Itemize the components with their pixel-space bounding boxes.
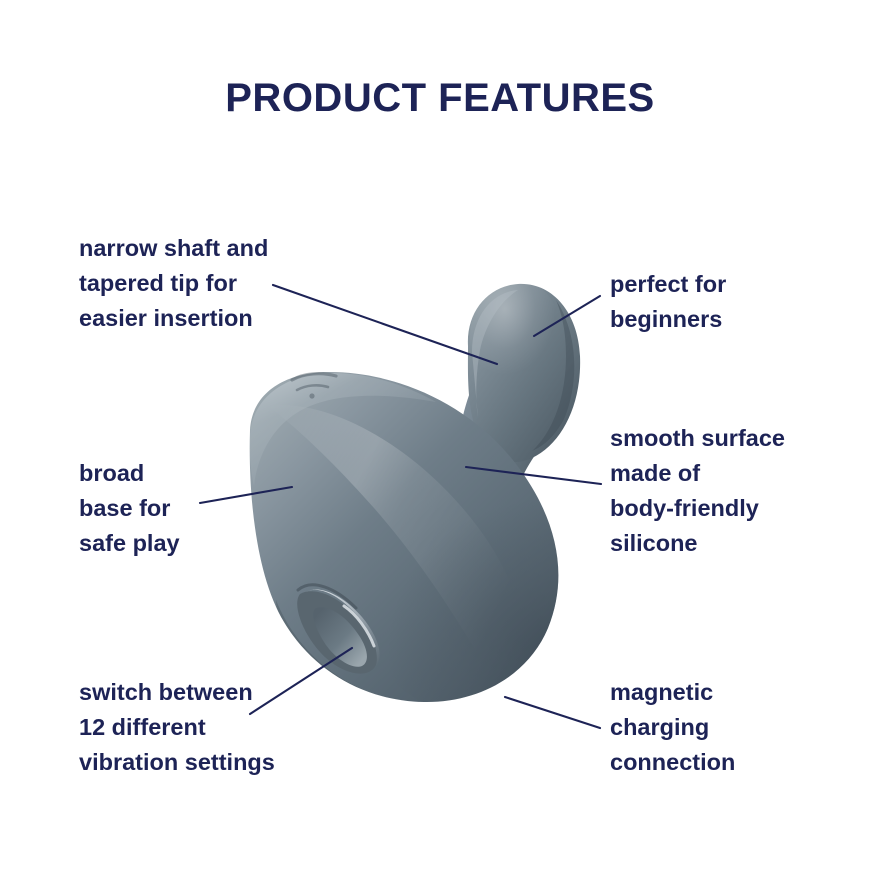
leader-line-smooth-surface <box>466 467 601 484</box>
leader-line-narrow-shaft <box>273 285 497 364</box>
leader-line-switch-vibration <box>250 648 352 714</box>
leader-line-perfect-beginners <box>534 296 600 336</box>
leader-line-magnetic-charging <box>505 697 600 728</box>
leader-line-broad-base <box>200 487 292 503</box>
leader-lines <box>0 0 880 880</box>
product-features-page: PRODUCT FEATURES <box>0 0 880 880</box>
